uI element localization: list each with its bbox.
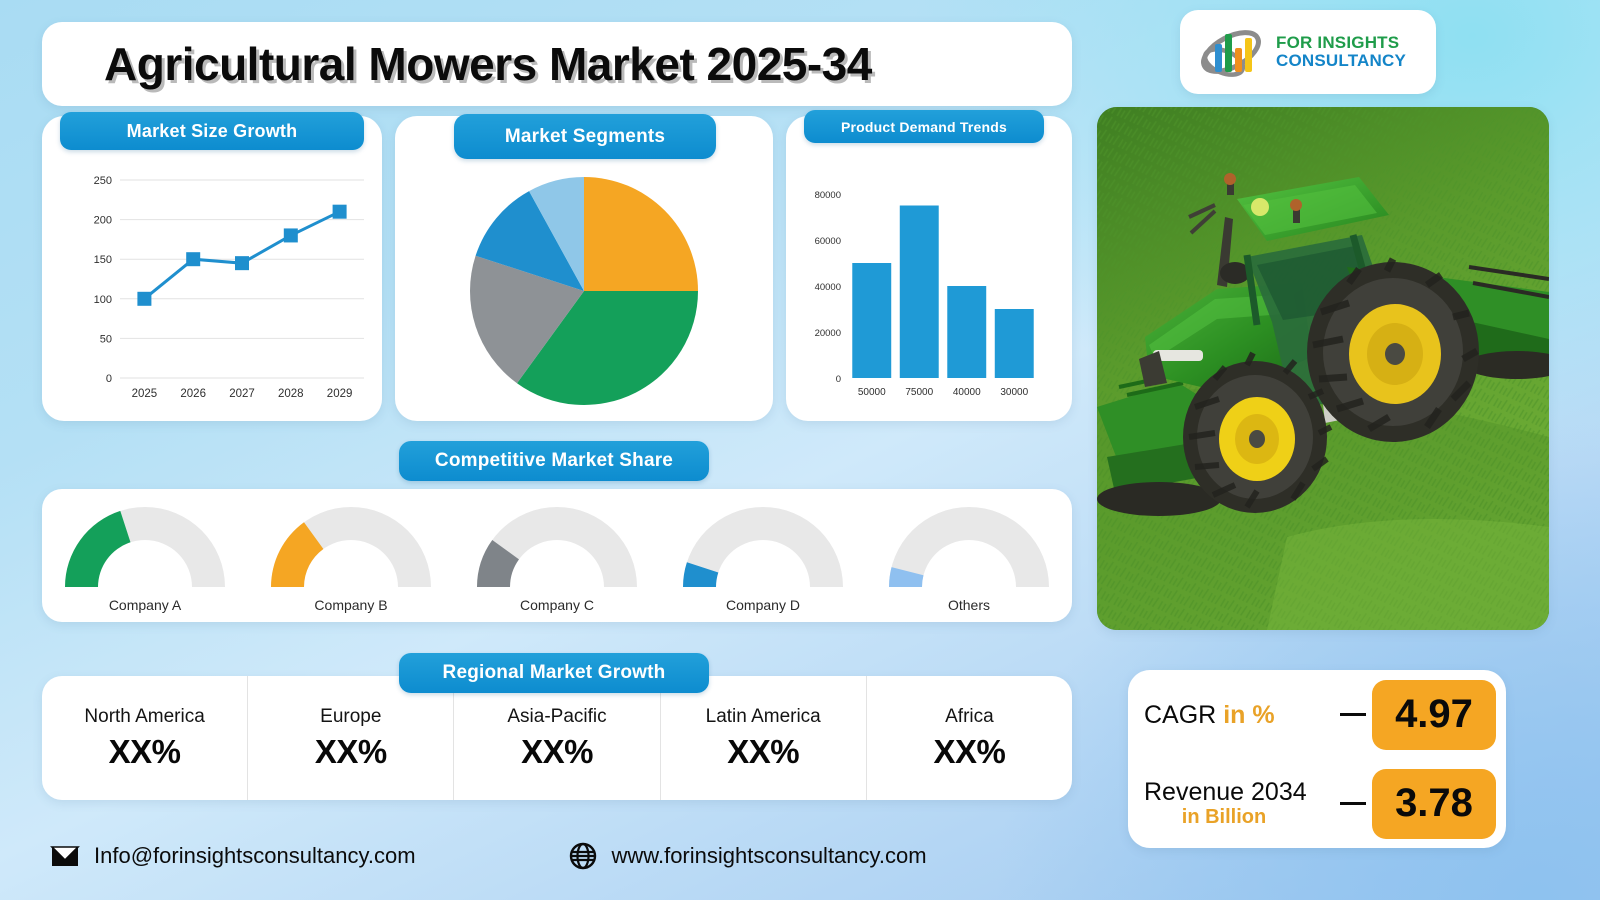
y-tick-label: 50	[100, 333, 112, 345]
region-cell-africa[interactable]: AfricaXX%	[867, 676, 1072, 800]
gauge-company-a[interactable]: Company A	[42, 489, 248, 613]
revenue-sublabel: in Billion	[1144, 806, 1340, 828]
gauge-dial	[54, 497, 236, 593]
regional-market-growth-card: North AmericaXX%EuropeXX%Asia-PacificXX%…	[42, 676, 1072, 800]
footer-email[interactable]: Info@forinsightsconsultancy.com	[50, 841, 416, 871]
footer-website-text: www.forinsightsconsultancy.com	[612, 843, 927, 869]
x-tick-label: 2026	[180, 388, 206, 400]
bar	[947, 286, 986, 378]
data-point-marker	[333, 205, 347, 219]
y-tick-label: 250	[94, 175, 112, 187]
y-tick-label: 20000	[815, 328, 841, 339]
data-point-marker	[186, 252, 200, 266]
y-tick-label: 150	[94, 254, 112, 266]
gauge-others[interactable]: Others	[866, 489, 1072, 613]
gauge-label: Company B	[314, 597, 387, 613]
region-cell-north-america[interactable]: North AmericaXX%	[42, 676, 248, 800]
y-tick-label: 60000	[815, 236, 841, 247]
gauge-company-b[interactable]: Company B	[248, 489, 454, 613]
footer-email-text: Info@forinsightsconsultancy.com	[94, 843, 416, 869]
y-tick-label: 40000	[815, 282, 841, 293]
market-segments-chart	[395, 116, 773, 421]
region-row: North AmericaXX%EuropeXX%Asia-PacificXX%…	[42, 676, 1072, 800]
region-value: XX%	[315, 733, 387, 771]
data-point-marker	[137, 292, 151, 306]
dash-separator-icon	[1340, 713, 1366, 716]
y-tick-label: 0	[106, 373, 112, 385]
bar	[900, 206, 939, 379]
x-tick-label: 2029	[327, 388, 353, 400]
gauge-dial	[260, 497, 442, 593]
region-cell-latin-america[interactable]: Latin AmericaXX%	[661, 676, 867, 800]
competitive-market-share-title: Competitive Market Share	[399, 441, 709, 481]
market-size-growth-card: 05010015020025020252026202720282029	[42, 116, 382, 421]
cagr-label-accent: in %	[1223, 701, 1274, 729]
footer: Info@forinsightsconsultancy.com www.fori…	[42, 828, 1082, 884]
gauge-dial	[672, 497, 854, 593]
region-value: XX%	[933, 733, 1005, 771]
region-name: North America	[84, 706, 204, 728]
bar	[995, 309, 1034, 378]
pie-slice	[584, 177, 698, 291]
y-tick-label: 80000	[815, 190, 841, 201]
logo-line-1: FOR INSIGHTS	[1276, 34, 1406, 52]
revenue-label-block: Revenue 2034 in Billion	[1128, 778, 1340, 828]
globe-icon	[568, 841, 598, 871]
infographic-root: Agricultural Mowers Market 2025-34 FOR I…	[0, 0, 1600, 900]
x-tick-label: 50000	[858, 387, 886, 398]
gauge-row: Company ACompany BCompany CCompany DOthe…	[42, 489, 1072, 622]
cagr-label: CAGR in %	[1144, 701, 1340, 729]
brand-logo: FOR INSIGHTS CONSULTANCY	[1180, 10, 1436, 94]
x-tick-label: 2027	[229, 388, 255, 400]
logo-wordmark: FOR INSIGHTS CONSULTANCY	[1276, 34, 1406, 69]
data-point-marker	[284, 228, 298, 242]
product-demand-trends-card: 0200004000060000800005000075000400003000…	[786, 116, 1072, 421]
product-demand-trends-chart: 0200004000060000800005000075000400003000…	[786, 116, 1072, 421]
gauge-value-arc	[65, 511, 130, 587]
y-tick-label: 0	[836, 374, 841, 385]
competitive-market-share-card: Company ACompany BCompany CCompany DOthe…	[42, 489, 1072, 622]
page-title: Agricultural Mowers Market 2025-34	[104, 37, 872, 91]
line-series	[144, 212, 339, 299]
stat-row-revenue: Revenue 2034 in Billion 3.78	[1128, 759, 1506, 848]
gauge-company-d[interactable]: Company D	[660, 489, 866, 613]
gauge-label: Company A	[109, 597, 181, 613]
footer-website[interactable]: www.forinsightsconsultancy.com	[568, 841, 927, 871]
revenue-value-badge: 3.78	[1372, 769, 1496, 839]
market-segments-title: Market Segments	[454, 114, 716, 159]
tractor-illustration	[1097, 107, 1549, 630]
product-demand-trends-title: Product Demand Trends	[804, 110, 1044, 143]
x-tick-label: 30000	[1000, 387, 1028, 398]
cagr-value-badge: 4.97	[1372, 680, 1496, 750]
x-tick-label: 75000	[905, 387, 933, 398]
market-size-growth-title: Market Size Growth	[60, 112, 364, 150]
x-tick-label: 2028	[278, 388, 304, 400]
market-size-growth-chart: 05010015020025020252026202720282029	[42, 116, 382, 421]
y-tick-label: 200	[94, 215, 112, 227]
dash-separator-icon	[1340, 802, 1366, 805]
region-name: Europe	[320, 706, 381, 728]
region-name: Latin America	[706, 706, 821, 728]
gauge-label: Others	[948, 597, 990, 613]
gauge-label: Company D	[726, 597, 800, 613]
gauge-dial	[878, 497, 1060, 593]
data-point-marker	[235, 256, 249, 270]
envelope-icon	[50, 841, 80, 871]
revenue-label: Revenue 2034	[1144, 778, 1340, 806]
stat-row-cagr: CAGR in % 4.97	[1128, 670, 1506, 759]
gauge-dial	[466, 497, 648, 593]
region-value: XX%	[727, 733, 799, 771]
regional-market-growth-title: Regional Market Growth	[399, 653, 709, 693]
region-name: Asia-Pacific	[507, 706, 606, 728]
market-segments-card	[395, 116, 773, 421]
hero-image-tractor	[1097, 107, 1549, 630]
x-tick-label: 40000	[953, 387, 981, 398]
y-tick-label: 100	[94, 294, 112, 306]
key-stats-card: CAGR in % 4.97 Revenue 2034 in Billion 3…	[1128, 670, 1506, 848]
region-value: XX%	[109, 733, 181, 771]
bar	[852, 263, 891, 378]
region-name: Africa	[945, 706, 994, 728]
cagr-label-block: CAGR in %	[1128, 701, 1340, 729]
cagr-label-text: CAGR	[1144, 701, 1216, 729]
x-tick-label: 2025	[132, 388, 158, 400]
gauge-label: Company C	[520, 597, 594, 613]
logo-line-2: CONSULTANCY	[1276, 52, 1406, 70]
region-cell-europe[interactable]: EuropeXX%	[248, 676, 454, 800]
title-card: Agricultural Mowers Market 2025-34	[42, 22, 1072, 106]
gauge-company-c[interactable]: Company C	[454, 489, 660, 613]
region-cell-asia-pacific[interactable]: Asia-PacificXX%	[454, 676, 660, 800]
logo-chart-swoosh-icon	[1194, 22, 1268, 82]
region-value: XX%	[521, 733, 593, 771]
